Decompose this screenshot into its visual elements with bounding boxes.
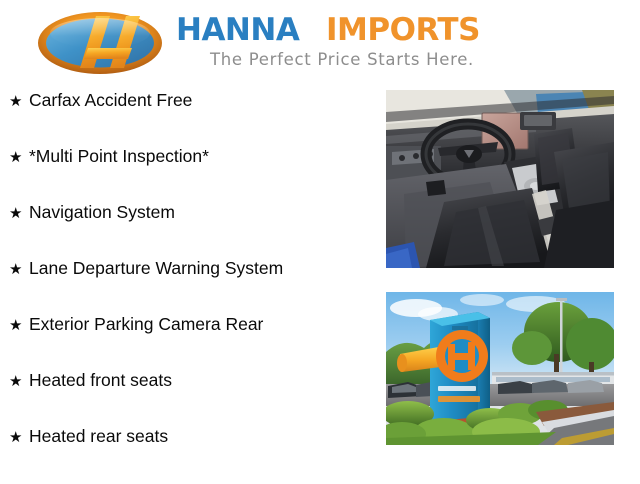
star-bullet-icon: ★ bbox=[9, 262, 29, 277]
list-item: ★ Lane Departure Warning System bbox=[0, 260, 370, 316]
feature-label: Carfax Accident Free bbox=[29, 92, 370, 110]
list-item: ★ Heated front seats bbox=[0, 372, 370, 428]
list-item: ★ Navigation System bbox=[0, 204, 370, 260]
list-item: ★ Carfax Accident Free bbox=[0, 92, 370, 148]
vehicle-interior-photo bbox=[386, 90, 614, 268]
star-bullet-icon: ★ bbox=[9, 318, 29, 333]
hanna-oval-h-logo-icon bbox=[36, 9, 164, 77]
star-bullet-icon: ★ bbox=[9, 206, 29, 221]
dealership-exterior-photo bbox=[386, 292, 614, 445]
list-item: ★ Heated rear seats bbox=[0, 428, 370, 484]
brand-wordmark: HANNA IMPORTS bbox=[176, 14, 516, 48]
list-item: ★ Exterior Parking Camera Rear bbox=[0, 316, 370, 372]
star-bullet-icon: ★ bbox=[9, 150, 29, 165]
brand-name-hanna: HANNA bbox=[176, 14, 300, 48]
star-bullet-icon: ★ bbox=[9, 430, 29, 445]
brand-header: HANNA IMPORTS The Perfect Price Starts H… bbox=[0, 0, 640, 88]
brand-name-imports: IMPORTS bbox=[326, 14, 480, 48]
list-item: ★ *Multi Point Inspection* bbox=[0, 148, 370, 204]
feature-label: Navigation System bbox=[29, 204, 370, 222]
star-bullet-icon: ★ bbox=[9, 374, 29, 389]
feature-label: Exterior Parking Camera Rear bbox=[29, 316, 370, 334]
feature-label: Lane Departure Warning System bbox=[29, 260, 370, 278]
star-bullet-icon: ★ bbox=[9, 94, 29, 109]
vehicle-feature-list: ★ Carfax Accident Free ★ *Multi Point In… bbox=[0, 92, 370, 484]
feature-label: Heated rear seats bbox=[29, 428, 370, 446]
feature-label: *Multi Point Inspection* bbox=[29, 148, 370, 166]
brand-tagline: The Perfect Price Starts Here. bbox=[210, 50, 510, 69]
feature-label: Heated front seats bbox=[29, 372, 370, 390]
